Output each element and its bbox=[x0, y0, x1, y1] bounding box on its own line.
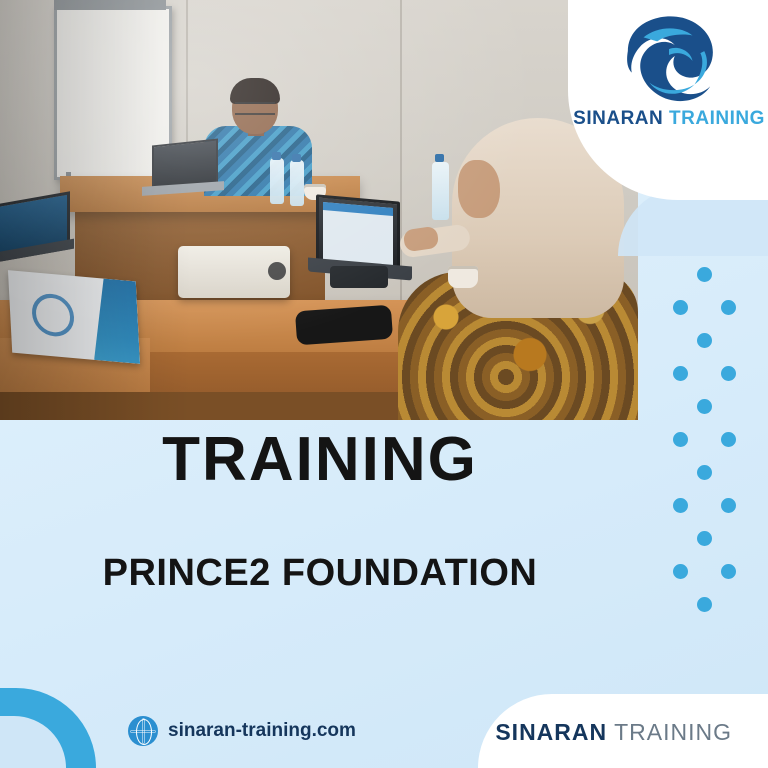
dot bbox=[697, 399, 712, 414]
swirl-logo-icon bbox=[610, 8, 728, 106]
training-poster: SINARAN TRAINING TRAINING PRINCE2 FOUNDA… bbox=[0, 0, 768, 768]
logo-name-primary: SINARAN bbox=[573, 108, 663, 129]
dot bbox=[721, 300, 736, 315]
logo-wordmark: SINARAN TRAINING bbox=[573, 108, 765, 130]
poster-title: TRAINING bbox=[0, 424, 640, 495]
dot bbox=[721, 498, 736, 513]
dot bbox=[673, 564, 688, 579]
dot bbox=[673, 432, 688, 447]
dot bbox=[673, 366, 688, 381]
footer-brand: SINARAN TRAINING bbox=[495, 719, 732, 746]
dot bbox=[673, 498, 688, 513]
classroom-photo bbox=[0, 0, 638, 420]
dot bbox=[721, 366, 736, 381]
footer-brand-primary: SINARAN bbox=[495, 719, 607, 745]
footer-website-text: sinaran-training.com bbox=[168, 720, 356, 742]
dot bbox=[697, 597, 712, 612]
footer-brand-secondary: TRAINING bbox=[614, 719, 732, 745]
dot bbox=[697, 465, 712, 480]
dot bbox=[721, 432, 736, 447]
dot bbox=[721, 564, 736, 579]
dot bbox=[697, 267, 712, 282]
decorative-dot-grid bbox=[668, 258, 740, 624]
dot bbox=[697, 531, 712, 546]
footer-website[interactable]: sinaran-training.com bbox=[128, 716, 356, 746]
dot bbox=[697, 333, 712, 348]
dot bbox=[673, 300, 688, 315]
globe-icon bbox=[128, 716, 158, 746]
logo: SINARAN TRAINING bbox=[576, 8, 762, 148]
poster-subtitle: PRINCE2 FOUNDATION bbox=[0, 552, 640, 595]
photo-lighting bbox=[0, 0, 638, 420]
logo-name-secondary: TRAINING bbox=[669, 108, 765, 129]
